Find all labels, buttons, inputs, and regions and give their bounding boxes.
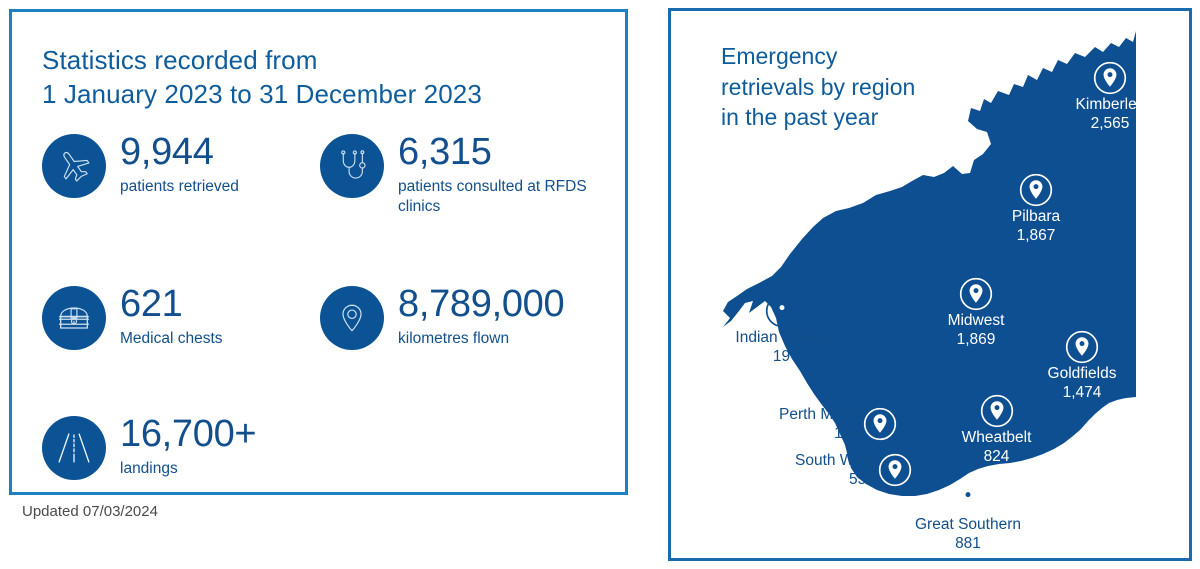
- map-marker-label: Wheatbelt: [944, 429, 1049, 448]
- stat-label: Medical chests: [120, 329, 223, 349]
- map-marker-label: Pilbara: [991, 208, 1081, 227]
- map-marker-text: Perth Metro 199: [779, 405, 860, 444]
- map-heading-line2: retrievals by region: [721, 72, 1021, 103]
- map-marker-label: Goldfields: [1027, 365, 1137, 384]
- runway-icon: [42, 416, 106, 480]
- medical-chest-icon: [42, 286, 106, 350]
- stat-label: patients retrieved: [120, 177, 239, 197]
- stat-text: 8,789,000 kilometres flown: [398, 284, 564, 349]
- stethoscope-icon: [320, 134, 384, 198]
- map-pin-icon: [1093, 61, 1127, 95]
- map-marker-value: 1,867: [991, 227, 1081, 246]
- row-spacer: [42, 218, 602, 284]
- map-marker-value: 558: [795, 471, 875, 490]
- map-pin-icon: [1065, 330, 1099, 364]
- map-marker-pilbara[interactable]: Pilbara 1,867: [991, 173, 1081, 246]
- map-marker-kimberley[interactable]: Kimberley 2,565: [1055, 61, 1165, 134]
- map-pin-icon: [320, 286, 384, 350]
- stat-text: 16,700+ landings: [120, 414, 256, 479]
- map-marker-value: 2,565: [1055, 115, 1165, 134]
- stat-text: 9,944 patients retrieved: [120, 132, 239, 197]
- map-pin-icon: [951, 481, 985, 515]
- stat-value: 621: [120, 286, 223, 323]
- stat-item-medical-chests: 621 Medical chests: [42, 284, 320, 350]
- stat-value: 9,944: [120, 134, 239, 171]
- map-marker-goldfields[interactable]: Goldfields 1,474: [1027, 330, 1137, 403]
- airplane-icon: [42, 134, 106, 198]
- stat-label: landings: [120, 459, 256, 479]
- map-panel: Emergency retrievals by region in the pa…: [668, 8, 1192, 561]
- statistics-heading-line2: 1 January 2023 to 31 December 2023: [42, 78, 582, 112]
- map-pin-icon: [1019, 173, 1053, 207]
- map-marker-midwest[interactable]: Midwest 1,869: [926, 277, 1026, 350]
- map-marker-south-west[interactable]: South West 558: [795, 451, 912, 490]
- map-marker-label: Indian Ocean: [724, 329, 839, 348]
- map-marker-label: Midwest: [926, 312, 1026, 331]
- map-marker-great-southern[interactable]: Great Southern 881: [903, 481, 1033, 554]
- stat-label: kilometres flown: [398, 329, 564, 349]
- map-pin-icon: [765, 294, 799, 328]
- map-heading: Emergency retrievals by region in the pa…: [721, 41, 1021, 133]
- statistics-row: 9,944 patients retrieved: [42, 132, 602, 218]
- statistics-grid: 9,944 patients retrieved: [42, 132, 602, 480]
- statistics-row: 621 Medical chests 8,789,000 kilometres …: [42, 284, 602, 350]
- map-marker-value: 881: [903, 535, 1033, 554]
- statistics-panel: Statistics recorded from 1 January 2023 …: [9, 9, 628, 495]
- map-marker-value: 1,869: [926, 331, 1026, 350]
- updated-timestamp: Updated 07/03/2024: [22, 503, 158, 520]
- stat-label: patients consulted at RFDS clinics: [398, 177, 600, 217]
- map-marker-label: Kimberley: [1055, 96, 1165, 115]
- map-marker-perth-metro[interactable]: Perth Metro 199: [779, 405, 897, 444]
- statistics-heading-line1: Statistics recorded from: [42, 44, 582, 78]
- map-marker-indian-ocean[interactable]: Indian Ocean 19: [724, 294, 839, 367]
- stat-item-landings: 16,700+ landings: [42, 414, 320, 480]
- map-marker-label: South West: [795, 452, 875, 471]
- statistics-row: 16,700+ landings: [42, 414, 602, 480]
- map-marker-value: 824: [944, 448, 1049, 467]
- map-marker-value: 19: [724, 348, 839, 367]
- stat-item-kilometres-flown: 8,789,000 kilometres flown: [320, 284, 600, 350]
- statistics-heading: Statistics recorded from 1 January 2023 …: [42, 44, 582, 112]
- row-spacer: [42, 350, 602, 414]
- map-pin-icon: [980, 394, 1014, 428]
- map-marker-wheatbelt[interactable]: Wheatbelt 824: [944, 394, 1049, 467]
- map-marker-label: Great Southern: [903, 516, 1033, 535]
- map-marker-value: 199: [779, 425, 860, 444]
- stat-value: 16,700+: [120, 416, 256, 453]
- stat-value: 6,315: [398, 134, 600, 171]
- stat-text: 621 Medical chests: [120, 284, 223, 349]
- map-marker-label: Perth Metro: [779, 406, 860, 425]
- stat-item-empty: [320, 414, 600, 480]
- stat-value: 8,789,000: [398, 286, 564, 323]
- stat-item-patients-retrieved: 9,944 patients retrieved: [42, 132, 320, 218]
- map-heading-line1: Emergency: [721, 41, 1021, 72]
- stat-text: 6,315 patients consulted at RFDS clinics: [398, 132, 600, 218]
- map-heading-line3: in the past year: [721, 102, 1021, 133]
- map-pin-icon: [863, 407, 897, 441]
- map-pin-icon: [959, 277, 993, 311]
- stat-item-patients-consulted: 6,315 patients consulted at RFDS clinics: [320, 132, 600, 218]
- map-marker-text: South West 558: [795, 451, 875, 490]
